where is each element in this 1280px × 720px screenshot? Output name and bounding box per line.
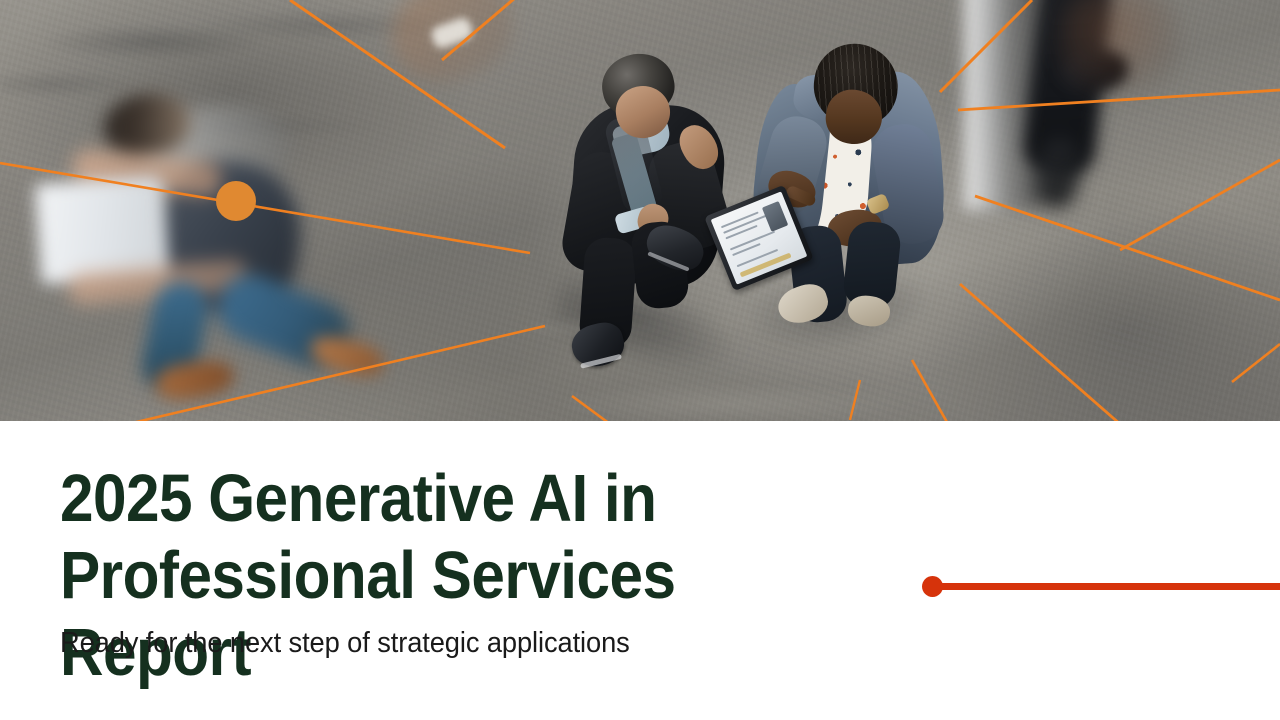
page-subtitle: Ready for the next step of strategic app… bbox=[60, 625, 630, 661]
people-group bbox=[0, 0, 1280, 421]
tablet-image-block bbox=[762, 201, 788, 232]
tablet-text-line bbox=[725, 225, 757, 240]
hero-photograph bbox=[0, 0, 1280, 421]
cover-text-band: 2025 Generative AI in Professional Servi… bbox=[0, 421, 1280, 720]
accent-rule-line bbox=[936, 583, 1280, 590]
report-cover-page: 2025 Generative AI in Professional Servi… bbox=[0, 0, 1280, 720]
orange-accent-dot bbox=[216, 181, 256, 221]
hero-image bbox=[0, 0, 1280, 421]
